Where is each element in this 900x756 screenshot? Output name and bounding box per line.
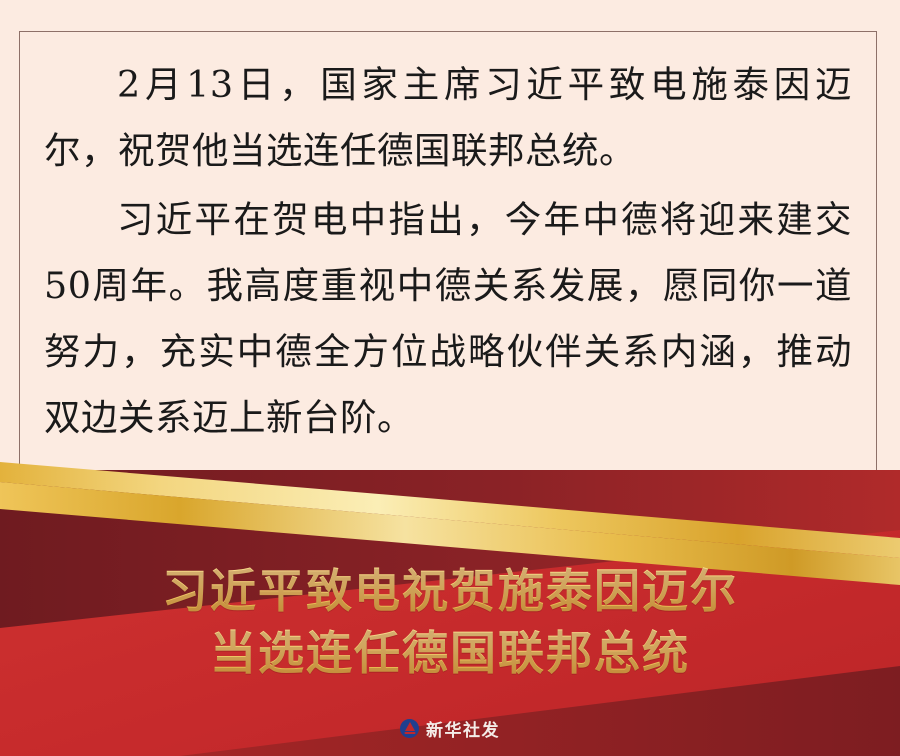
headline-line-2: 当选连任德国联邦总统 (0, 625, 900, 681)
headline-line-1: 习近平致电祝贺施泰因迈尔 (0, 563, 900, 619)
paragraph-1: 2月13日，国家主席习近平致电施泰因迈尔，祝贺他当选连任德国联邦总统。 (44, 52, 852, 184)
credit-text: 新华社发 (426, 716, 500, 741)
paragraph-2: 习近平在贺电中指出，今年中德将迎来建交50周年。我高度重视中德关系发展，愿同你一… (44, 187, 852, 451)
headline-block: 习近平致电祝贺施泰因迈尔 当选连任德国联邦总统 (0, 563, 900, 681)
news-graphic-page: 2月13日，国家主席习近平致电施泰因迈尔，祝贺他当选连任德国联邦总统。 习近平在… (0, 0, 900, 756)
xinhua-logo-icon (400, 719, 419, 738)
article-body: 2月13日，国家主席习近平致电施泰因迈尔，祝贺他当选连任德国联邦总统。 习近平在… (44, 52, 852, 454)
credit-line: 新华社发 (0, 716, 900, 741)
